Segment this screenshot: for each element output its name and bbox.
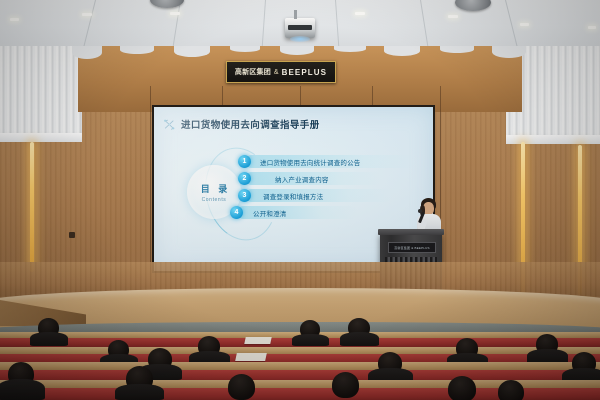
projector-beam-glow (290, 36, 310, 42)
audience-head (332, 372, 359, 398)
toc-item-number: 1 (238, 155, 251, 168)
slide-contents-list: 1 进口货物使用去向统计调查的公告 2 纳入产业调查内容 3 调查登录和填报方法… (238, 155, 416, 223)
recessed-spotlight (355, 12, 365, 15)
audience-shoulders (0, 379, 45, 400)
toc-item-label: 公开和澄清 (253, 208, 287, 218)
toc-item-number: 4 (230, 206, 243, 219)
slide-title-row: 进口货物使用去向调查指导手册 (163, 117, 320, 131)
podium-nameplate: 高新区集团 & BEEPLUS (388, 242, 436, 253)
toc-item-label: 纳入产业调查内容 (275, 174, 329, 184)
auditorium-scene: 高新区集团 & BEEPLUS 进口货物使用去向调查指导手册 (0, 0, 600, 400)
fluted-panel-cap-left (0, 133, 82, 142)
venue-sign-plaque: 高新区集团 & BEEPLUS (226, 61, 336, 83)
audience-head (498, 380, 524, 400)
ceiling-projector (285, 18, 315, 38)
toc-item-number: 2 (238, 172, 251, 185)
wall-outlet (69, 232, 75, 238)
recessed-spotlight (10, 18, 19, 21)
recessed-spotlight (82, 13, 92, 16)
podium-nameplate-text: 高新区集团 & BEEPLUS (394, 246, 430, 250)
wall-accent-light-left (30, 142, 34, 272)
handout-paper (235, 353, 267, 361)
audience-head (448, 376, 476, 400)
podium-top-surface (378, 229, 444, 235)
recessed-spotlight (170, 12, 180, 15)
audience-shoulders (115, 384, 164, 400)
recessed-spotlight (520, 23, 529, 26)
audience-shoulders (340, 332, 379, 346)
molecule-logo-icon (163, 118, 176, 131)
toc-item: 4 公开和澄清 (230, 206, 416, 219)
handout-paper (244, 337, 271, 344)
audience-shoulders (292, 334, 329, 346)
fluted-wall-panel-left (0, 46, 82, 140)
plaque-ampersand: & (274, 69, 279, 76)
recessed-spotlight (448, 15, 458, 18)
recessed-spotlight (588, 26, 596, 29)
plaque-brand-text: BEEPLUS (282, 68, 328, 77)
toc-item: 2 纳入产业调查内容 (238, 172, 416, 185)
slide-title: 进口货物使用去向调查指导手册 (181, 117, 320, 131)
audience-head (228, 374, 255, 400)
microphone-head-icon (418, 209, 422, 213)
audience-shoulders (30, 332, 68, 346)
toc-item-label: 调查登录和填报方法 (263, 191, 323, 201)
toc-item-number: 3 (238, 189, 251, 202)
plaque-chinese-text: 高新区集团 (235, 67, 271, 77)
contents-label-cn: 目 录 (198, 182, 231, 195)
toc-item-label: 进口货物使用去向统计调查的公告 (260, 157, 361, 167)
contents-label-en: Contents (202, 197, 227, 203)
toc-item: 1 进口货物使用去向统计调查的公告 (238, 155, 416, 168)
toc-item: 3 调查登录和填报方法 (238, 189, 416, 202)
